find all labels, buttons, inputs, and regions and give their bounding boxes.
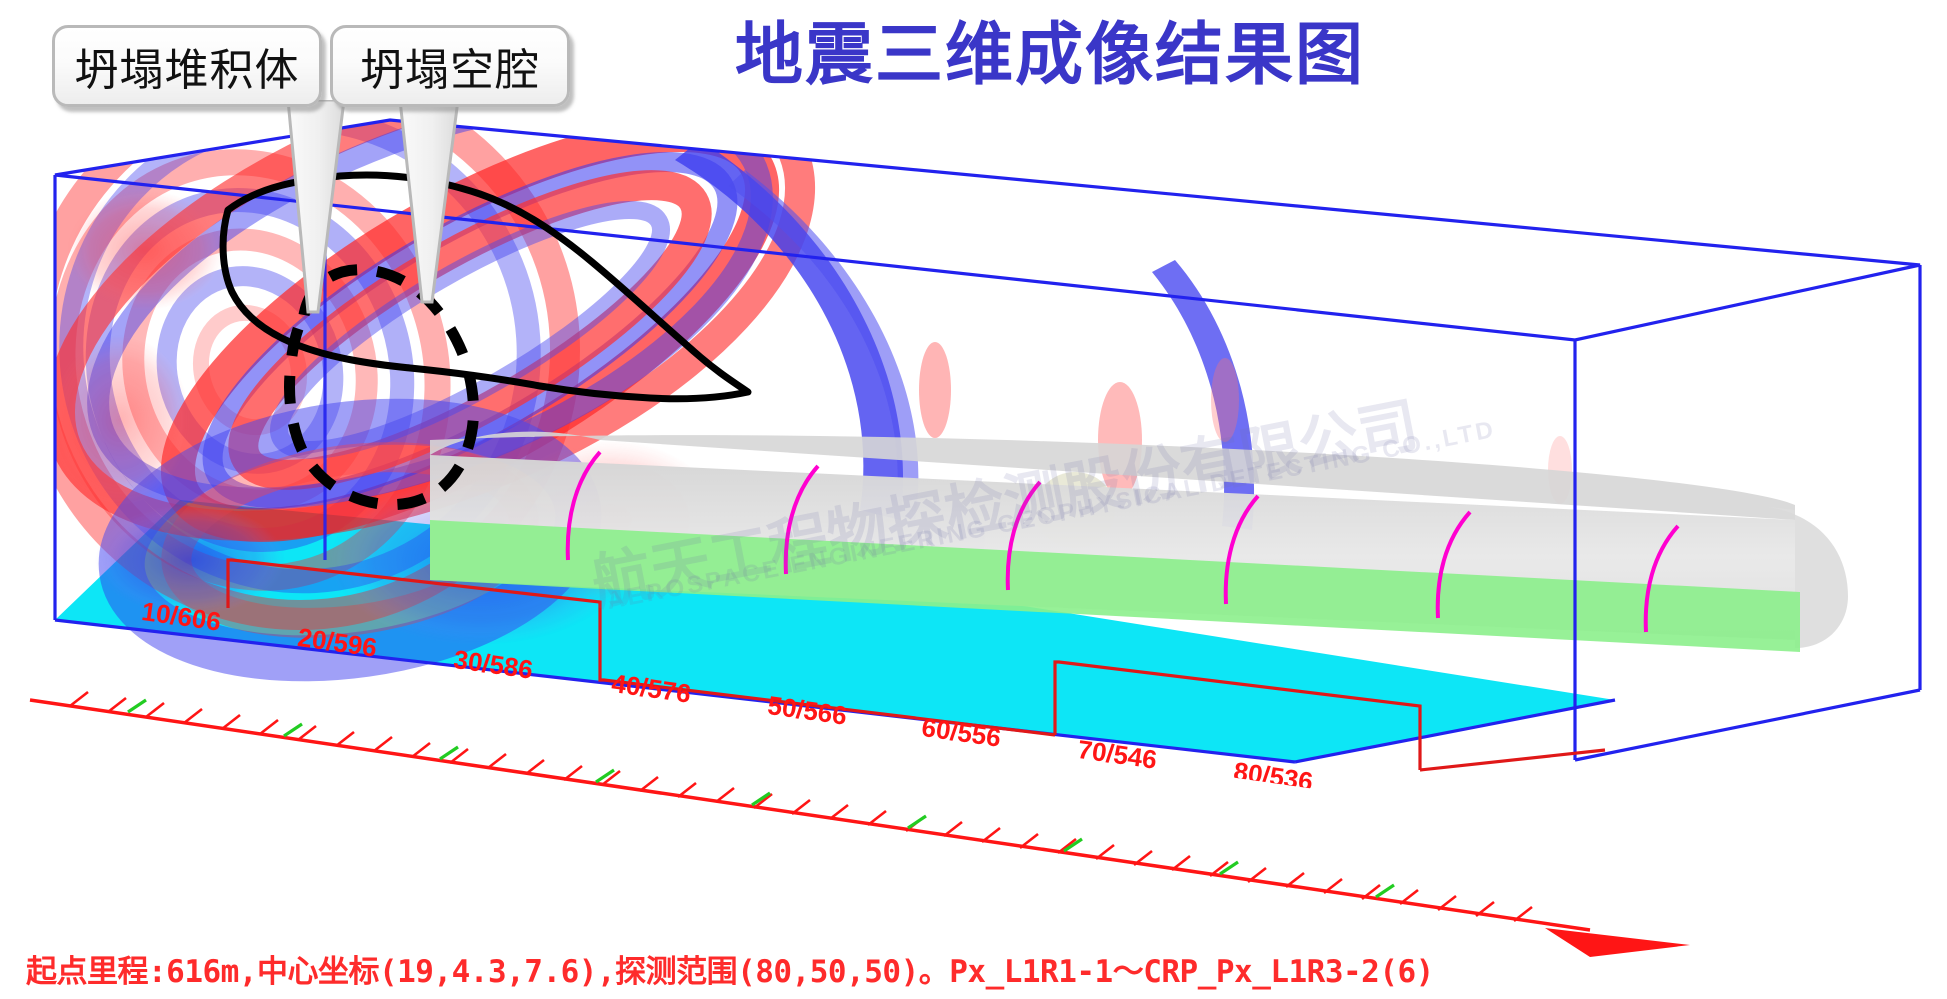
seismic-3d-imaging-figure: 航天工程物探检测股份有限公司 AEROSPACE ENGINEERING GEO… (0, 0, 1947, 999)
callout-collapse-cavity[interactable]: 坍塌空腔 (330, 25, 570, 107)
callout-tail-accumulation (248, 100, 378, 315)
callout-tail-cavity (370, 100, 500, 305)
callout-collapse-accumulation[interactable]: 坍塌堆积体 (52, 25, 322, 107)
callout-label: 坍塌堆积体 (75, 34, 300, 98)
figure-caption: 起点里程:616m,中心坐标(19,4.3,7.6),探测范围(80,50,50… (26, 946, 1434, 991)
callout-label: 坍塌空腔 (360, 34, 540, 98)
